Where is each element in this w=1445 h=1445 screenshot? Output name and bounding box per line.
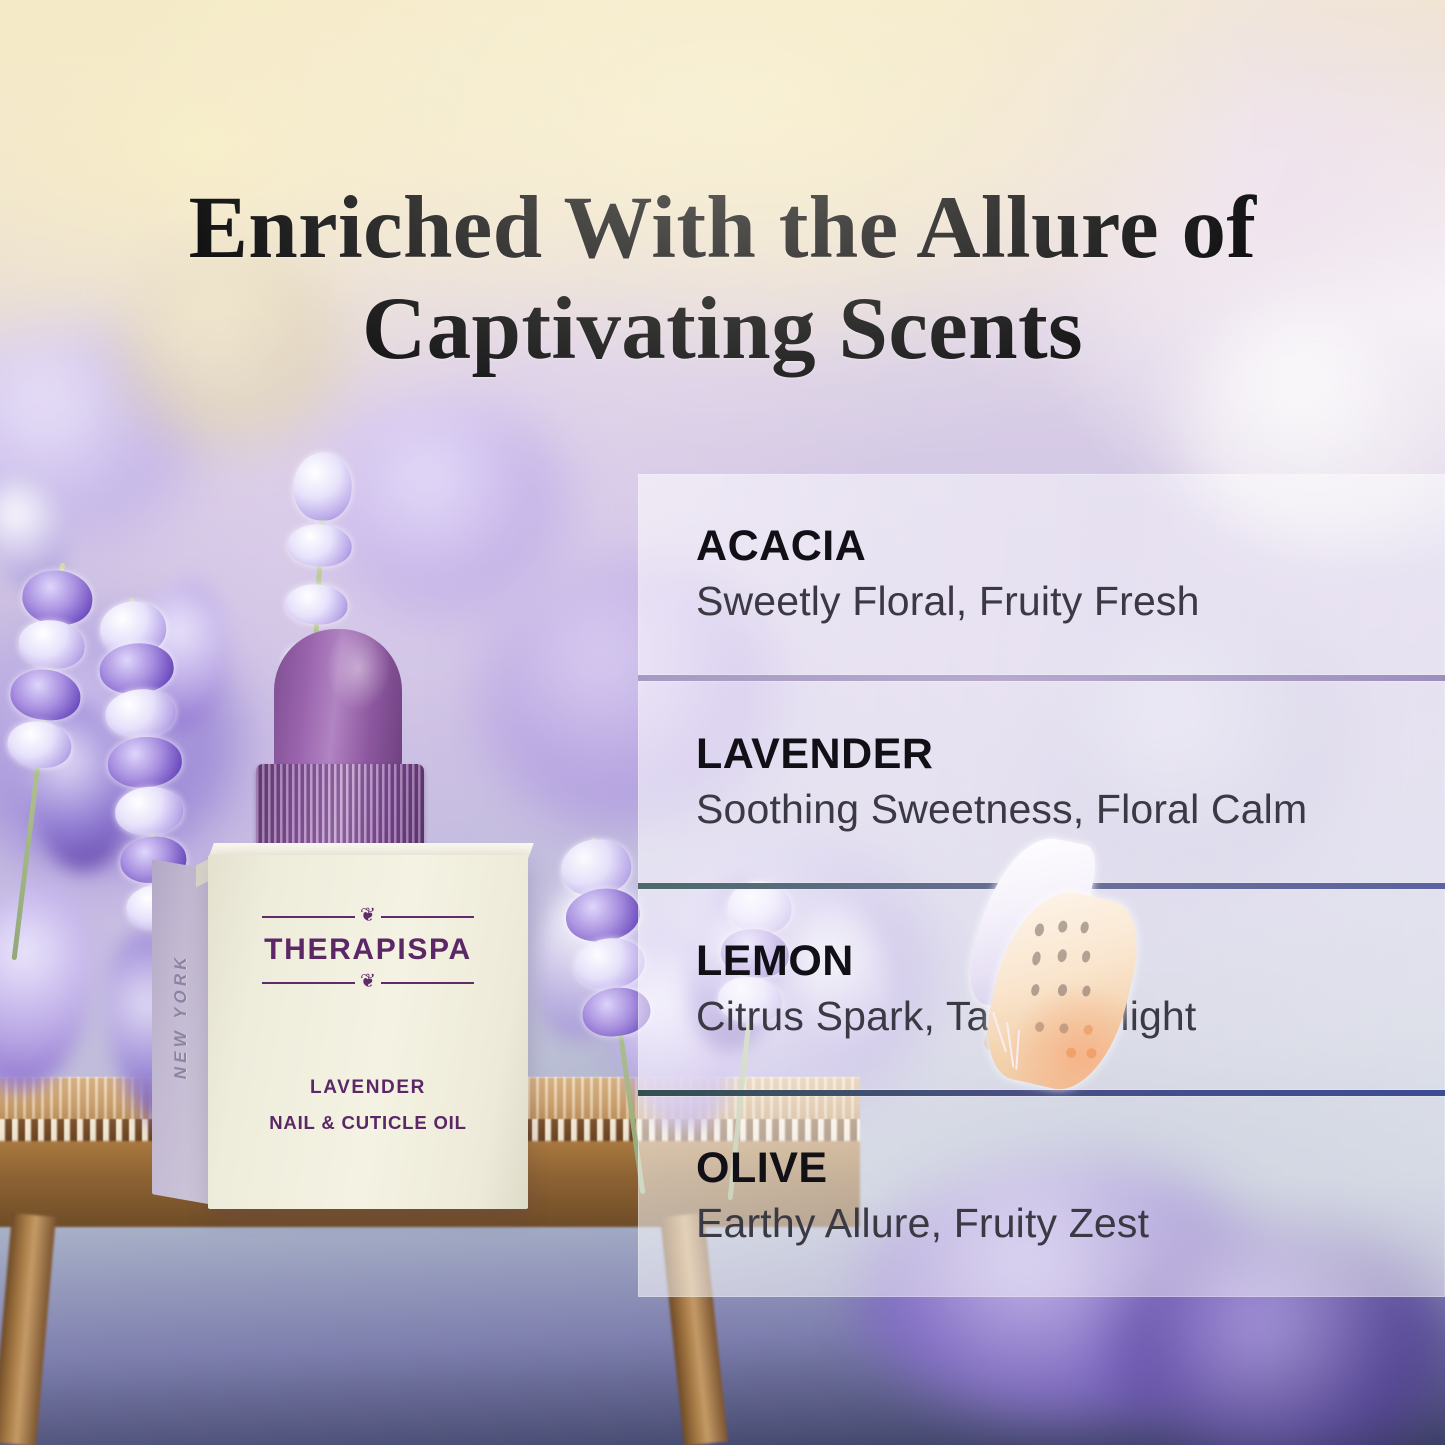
bottle-side-text: NEW YORK <box>171 899 191 1133</box>
ornament-icon: ❦ <box>360 972 376 991</box>
flourish-rule-right <box>381 982 474 984</box>
ornament-icon: ❦ <box>360 906 376 925</box>
lavender-floret <box>8 666 84 724</box>
butterfly-spot <box>1058 1023 1069 1035</box>
scent-name: OLIVE <box>696 1147 1445 1190</box>
flourish-rule-left <box>262 916 355 918</box>
scent-description: Earthy Allure, Fruity Zest <box>696 1202 1445 1245</box>
page-title: Enriched With the Allure of Captivating … <box>0 178 1445 381</box>
product-type-label: NAIL & CUTICLE OIL <box>208 1108 528 1138</box>
product-variant-name: LAVENDER <box>310 1077 426 1098</box>
scent-description: Soothing Sweetness, Floral Calm <box>696 788 1445 831</box>
butterfly-spot <box>1034 923 1046 938</box>
bottle-side-panel: NEW YORK <box>152 859 208 1204</box>
butterfly-spot <box>1056 948 1068 963</box>
butterfly-spot <box>1065 1047 1077 1059</box>
butterfly-icon <box>958 836 1170 1084</box>
bottle-front-label: ❦ THERAPISPA ❦ LAVENDER NAIL & CUTICLE O… <box>208 855 528 1209</box>
scent-row-olive: OLIVE Earthy Allure, Fruity Zest <box>638 1096 1445 1297</box>
scent-row-acacia: ACACIA Sweetly Floral, Fruity Fresh <box>638 474 1445 675</box>
lavender-floret <box>287 523 353 568</box>
butterfly-spot <box>1057 983 1068 997</box>
lavender-floret <box>5 718 74 771</box>
lavender-floret <box>19 567 95 629</box>
butterfly-spot <box>1034 1021 1045 1033</box>
product-bottle: NEW YORK ❦ THERAPISPA ❦ LAVENDER <box>152 629 544 1214</box>
product-variant-block: LAVENDER NAIL & CUTICLE OIL <box>208 1073 528 1138</box>
lavender-floret <box>292 451 353 522</box>
lavender-floret <box>16 616 87 672</box>
lavender-floret <box>285 583 349 626</box>
flourish-bottom: ❦ <box>262 973 474 992</box>
brand-name: THERAPISPA <box>208 935 528 965</box>
lavender-floret <box>563 884 644 946</box>
butterfly-spot <box>1083 1024 1094 1036</box>
flourish-rule-left <box>262 982 355 984</box>
flourish-top: ❦ <box>262 907 474 926</box>
butterfly-spot <box>1030 983 1040 996</box>
butterfly-spot <box>1057 920 1068 934</box>
product-marketing-image: NEW YORK ❦ THERAPISPA ❦ LAVENDER <box>0 0 1445 1445</box>
flourish-rule-right <box>381 916 474 918</box>
scent-description: Sweetly Floral, Fruity Fresh <box>696 580 1445 623</box>
bottle-cap-dome <box>274 629 402 779</box>
scent-name: LAVENDER <box>696 733 1445 776</box>
brand-lockup: ❦ THERAPISPA ❦ <box>208 907 528 992</box>
headline-line-1: Enriched With the Allure of <box>0 178 1445 279</box>
butterfly-spot <box>1086 1047 1098 1059</box>
lavender-stem <box>0 558 102 965</box>
butterfly-spot <box>1081 985 1091 998</box>
butterfly-spot <box>1079 921 1089 934</box>
lavender-floret <box>571 934 647 993</box>
butterfly-spot <box>1031 951 1042 966</box>
butterfly-spot <box>1081 950 1091 963</box>
headline-line-2: Captivating Scents <box>0 279 1445 380</box>
scent-name: ACACIA <box>696 525 1445 568</box>
